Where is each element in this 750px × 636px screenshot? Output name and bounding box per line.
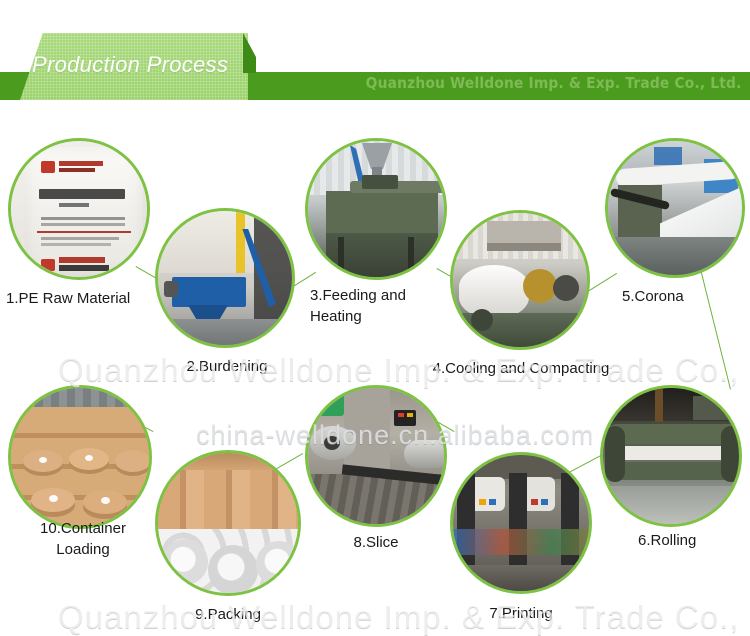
photo-slice — [308, 388, 444, 524]
step-1-photo-circle[interactable] — [8, 138, 150, 280]
step-2-photo-circle[interactable] — [155, 208, 295, 348]
photo-packing — [158, 453, 298, 593]
process-diagram: 1.PE Raw Material 2.Burdening — [0, 120, 750, 633]
connector-5-6 — [699, 265, 731, 389]
step-6-caption: 6.Rolling — [638, 530, 750, 551]
step-4-caption: 4.Cooling and Compacting — [410, 358, 632, 379]
photo-corona — [608, 141, 742, 275]
step-3-photo-circle[interactable] — [305, 138, 447, 280]
step-7-photo-circle[interactable] — [450, 452, 592, 594]
photo-container-loading — [11, 388, 149, 526]
step-10-caption: 10.Container Loading — [6, 518, 160, 560]
step-5-caption: 5.Corona — [622, 286, 750, 307]
photo-burdening — [158, 211, 292, 345]
photo-cooling-compacting — [453, 213, 587, 347]
page-header: Production Process Quanzhou Welldone Imp… — [0, 0, 750, 120]
step-7-caption: 7.Printing — [446, 603, 596, 624]
step-6-photo-circle[interactable] — [600, 385, 742, 527]
company-name: Quanzhou Welldone Imp. & Exp. Trade Co.,… — [366, 74, 742, 92]
step-5-photo-circle[interactable] — [605, 138, 745, 278]
photo-pe-raw-material — [11, 141, 147, 277]
step-3-caption: 3.Feeding and Heating — [310, 285, 460, 327]
step-10-photo-circle[interactable] — [8, 385, 152, 529]
step-8-photo-circle[interactable] — [305, 385, 447, 527]
step-2-caption: 2.Burdening — [152, 356, 302, 377]
photo-feeding-heating — [308, 141, 444, 277]
step-9-photo-circle[interactable] — [155, 450, 301, 596]
connector-4-5 — [586, 273, 617, 293]
step-8-caption: 8.Slice — [302, 532, 450, 553]
step-4-photo-circle[interactable] — [450, 210, 590, 350]
page-title: Production Process — [32, 52, 252, 78]
step-9-caption: 9.Packing — [150, 604, 306, 625]
photo-printing — [453, 455, 589, 591]
photo-rolling — [603, 388, 739, 524]
